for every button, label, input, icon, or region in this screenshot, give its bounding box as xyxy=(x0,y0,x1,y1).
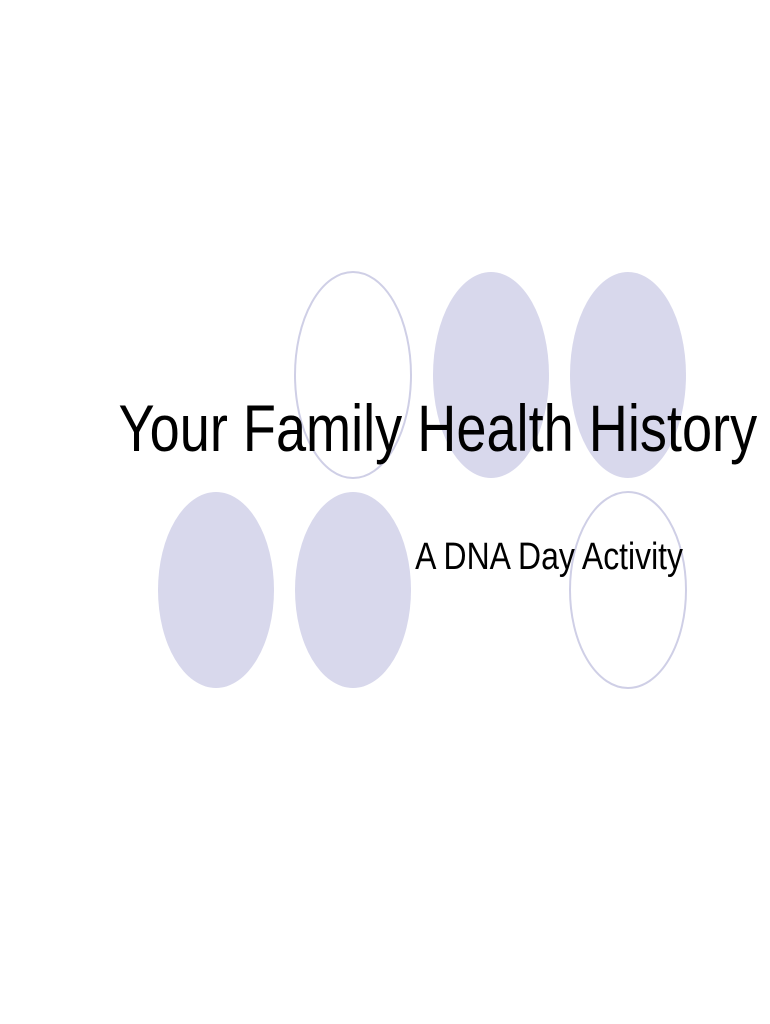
slide-subtitle: A DNA Day Activity xyxy=(263,534,683,580)
slide-title: Your Family Health History xyxy=(119,389,652,467)
presentation-slide: Your Family Health History A DNA Day Act… xyxy=(0,0,770,1024)
slide-text-layer: Your Family Health History A DNA Day Act… xyxy=(0,0,770,1024)
